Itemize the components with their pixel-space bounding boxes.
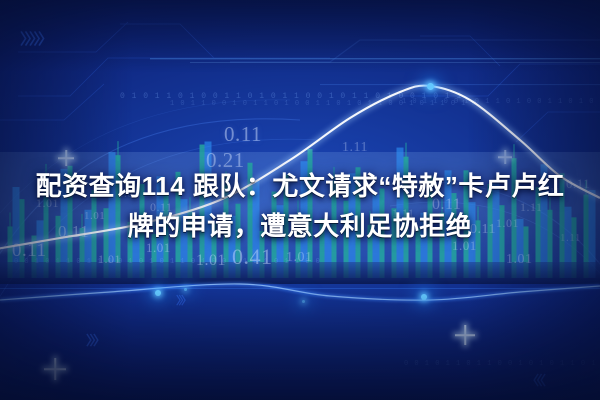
headline-line-1: 配资查询114 跟队：尤文请求“特赦”卡卢卢红 — [0, 166, 600, 206]
banner-canvas: 0.110.111.011.011.011.011.011.011.010.11… — [0, 0, 600, 400]
headline-line-2: 牌的申请，遭意大利足协拒绝 — [0, 206, 600, 246]
headline: 配资查询114 跟队：尤文请求“特赦”卡卢卢红 牌的申请，遭意大利足协拒绝 — [0, 166, 600, 246]
